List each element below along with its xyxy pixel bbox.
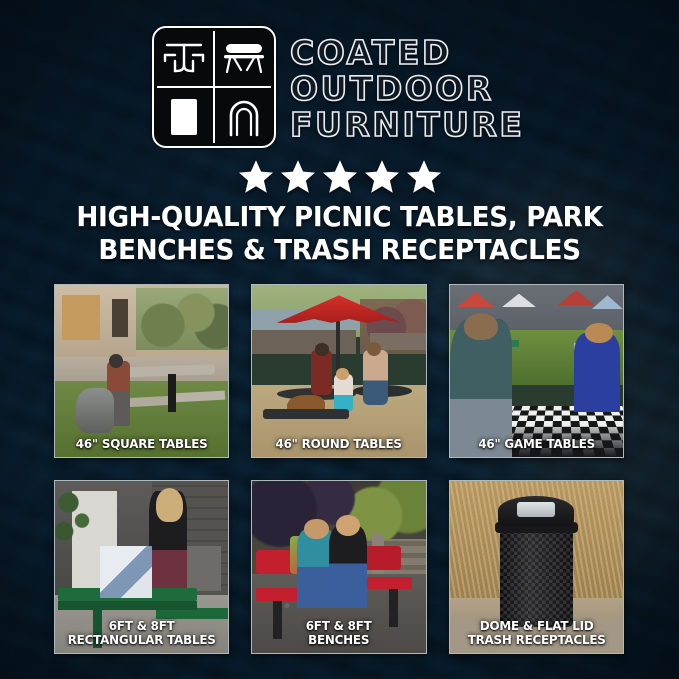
product-caption: 6FT & 8FT BENCHES [259, 619, 420, 646]
logo-icon-grid [152, 26, 276, 148]
product-caption: 46" SQUARE TABLES [61, 437, 222, 451]
caption-line-1: 46" ROUND TABLES [259, 437, 420, 451]
wordmark-line-outdoor: OUTDOOR [290, 71, 524, 106]
brand-logo: COATED OUTDOOR FURNITURE [152, 26, 532, 148]
caption-line-1: DOME & FLAT LID [456, 619, 617, 633]
product-tile-rectangular-tables[interactable]: 6FT & 8FT RECTANGULAR TABLES [54, 480, 229, 654]
trash-receptacle-icon [154, 87, 214, 146]
headline-line-1: HIGH-QUALITY PICNIC TABLES, PARK [76, 200, 602, 233]
product-image-square-tables [55, 285, 228, 457]
product-row-2: 6FT & 8FT RECTANGULAR TABLES [54, 480, 624, 654]
product-grid: 46" SQUARE TABLES [54, 284, 624, 654]
brand-wordmark: COATED OUTDOOR FURNITURE [290, 33, 524, 142]
wordmark-line-coated: COATED [290, 35, 524, 70]
product-image-game-tables [450, 285, 623, 457]
headline: HIGH-QUALITY PICNIC TABLES, PARK BENCHES… [49, 200, 631, 266]
star-icon [239, 160, 273, 193]
caption-line-2: TRASH RECEPTACLES [456, 633, 617, 647]
product-caption: 46" GAME TABLES [456, 437, 617, 451]
star-icon [281, 160, 315, 193]
bike-rack-icon [214, 87, 274, 146]
caption-line-1: 6FT & 8FT [259, 619, 420, 633]
wordmark-line-furniture: FURNITURE [290, 107, 524, 142]
caption-line-1: 46" SQUARE TABLES [61, 437, 222, 451]
caption-line-1: 6FT & 8FT [61, 619, 222, 633]
picnic-table-icon [154, 28, 214, 87]
star-icon [323, 160, 357, 193]
product-tile-game-tables[interactable]: 46" GAME TABLES [449, 284, 624, 458]
park-bench-icon [214, 28, 274, 87]
product-caption: 46" ROUND TABLES [259, 437, 420, 451]
product-row-1: 46" SQUARE TABLES [54, 284, 624, 458]
product-tile-trash-receptacles[interactable]: DOME & FLAT LID TRASH RECEPTACLES [449, 480, 624, 654]
product-caption: 6FT & 8FT RECTANGULAR TABLES [61, 619, 222, 646]
product-tile-square-tables[interactable]: 46" SQUARE TABLES [54, 284, 229, 458]
star-icon [365, 160, 399, 193]
product-tile-benches[interactable]: 6FT & 8FT BENCHES [251, 480, 426, 654]
promo-banner: COATED OUTDOOR FURNITURE HIGH-QUALITY PI… [0, 0, 679, 679]
caption-line-1: 46" GAME TABLES [456, 437, 617, 451]
star-icon [407, 160, 441, 193]
product-image-round-tables [252, 285, 425, 457]
star-rating [0, 160, 679, 193]
product-caption: DOME & FLAT LID TRASH RECEPTACLES [456, 619, 617, 646]
caption-line-2: BENCHES [259, 633, 420, 647]
headline-line-2: BENCHES & TRASH RECEPTACLES [49, 233, 631, 266]
caption-line-2: RECTANGULAR TABLES [61, 633, 222, 647]
product-tile-round-tables[interactable]: 46" ROUND TABLES [251, 284, 426, 458]
